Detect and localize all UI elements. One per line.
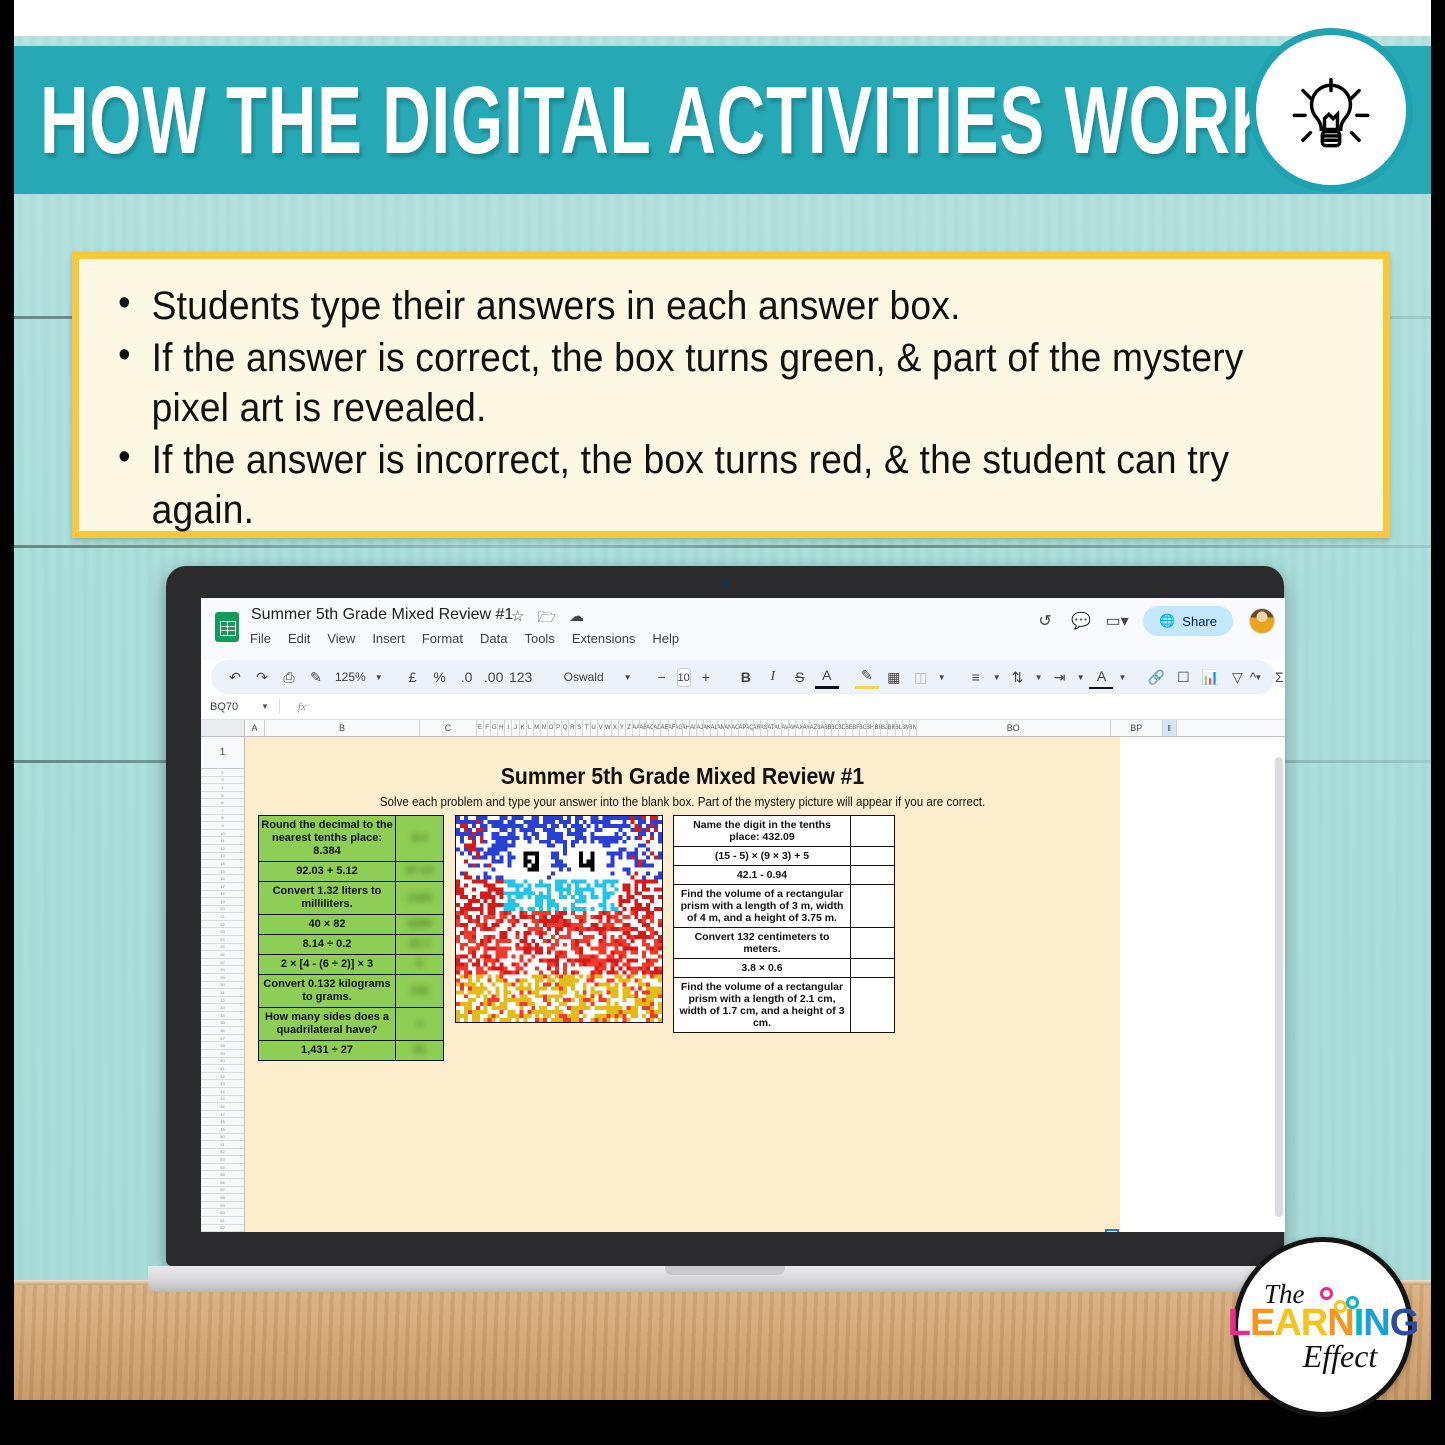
menu-data[interactable]: Data: [480, 631, 507, 646]
problem-cell: Name the digit in the tenths place: 432.…: [674, 816, 851, 847]
row-header-40[interactable]: 40: [201, 1058, 244, 1066]
column-header-j[interactable]: J: [512, 720, 519, 736]
column-header-ar[interactable]: AR: [754, 720, 761, 736]
row-header-61[interactable]: 61: [201, 1217, 244, 1225]
sheet-canvas[interactable]: Summer 5th Grade Mixed Review #1 Solve e…: [245, 737, 1285, 1232]
column-header-am[interactable]: AM: [718, 720, 725, 736]
zoom-level[interactable]: 125%: [331, 670, 370, 684]
worksheet-title: Summer 5th Grade Mixed Review #1: [280, 763, 1085, 790]
column-header-ag[interactable]: AG: [676, 720, 683, 736]
row-header-45[interactable]: 45: [201, 1096, 244, 1104]
share-button[interactable]: 🌐 Share: [1143, 606, 1233, 636]
column-header-bl[interactable]: BL: [896, 720, 903, 736]
table-row[interactable]: Name the digit in the tenths place: 432.…: [674, 816, 895, 847]
column-header-o[interactable]: O: [548, 720, 555, 736]
column-header-k[interactable]: K: [520, 720, 527, 736]
problem-cell: 92.03 + 5.12: [259, 862, 396, 882]
column-header-bg[interactable]: BG: [860, 720, 867, 736]
column-header-bf[interactable]: BF: [853, 720, 860, 736]
formula-bar: BQ70 ▼ fx: [201, 694, 1285, 720]
answer-value: 6: [416, 958, 422, 970]
italic-button[interactable]: I: [761, 665, 785, 689]
column-header-q[interactable]: Q: [562, 720, 569, 736]
redo-icon[interactable]: ↷: [250, 665, 274, 689]
row-header-34[interactable]: 34: [201, 1012, 244, 1020]
answer-value: 3280: [407, 918, 431, 930]
problem-cell: Convert 132 centimeters to meters.: [674, 928, 851, 959]
column-header-a[interactable]: A: [245, 720, 265, 736]
row-header-59[interactable]: 59: [201, 1202, 244, 1210]
row-header-22[interactable]: 22: [201, 921, 244, 929]
row-header-53[interactable]: 53: [201, 1156, 244, 1164]
decrease-font-size-button[interactable]: −: [650, 665, 674, 689]
top-white-band: [0, 0, 1445, 36]
problem-cell: 40 × 82: [259, 915, 396, 935]
row-header-20[interactable]: 20: [201, 906, 244, 914]
column-header-v[interactable]: V: [598, 720, 605, 736]
column-header-bc[interactable]: BC: [832, 720, 839, 736]
problem-cell: Convert 1.32 liters to milliliters.: [259, 882, 396, 915]
bold-button[interactable]: B: [734, 665, 758, 689]
column-header-bb[interactable]: BB: [825, 720, 832, 736]
answer-value: 40.7: [409, 938, 430, 950]
column-header-as[interactable]: AS: [761, 720, 768, 736]
column-header-f[interactable]: F: [484, 720, 491, 736]
row-header-19[interactable]: 19: [201, 898, 244, 906]
row-header-17[interactable]: 17: [201, 883, 244, 891]
column-header-af[interactable]: AF: [669, 720, 676, 736]
table-row[interactable]: 8.14 ÷ 0.240.7: [259, 935, 444, 955]
column-header-c[interactable]: C: [420, 720, 477, 736]
row-header-column[interactable]: 1 23456789101112131415161718192021222324…: [201, 737, 245, 1232]
column-header-w[interactable]: W: [605, 720, 612, 736]
answer-cell[interactable]: 53: [396, 1041, 444, 1061]
merge-cells-icon: ◫: [909, 665, 933, 689]
row-header-52[interactable]: 52: [201, 1149, 244, 1157]
chevron-down-icon[interactable]: ▼: [1075, 673, 1087, 682]
column-header-ap[interactable]: AP: [739, 720, 746, 736]
row-header-14[interactable]: 14: [201, 860, 244, 868]
print-icon[interactable]: ⎙: [277, 665, 301, 689]
row-header-31[interactable]: 31: [201, 989, 244, 997]
avatar[interactable]: [1249, 608, 1275, 634]
chevron-down-icon: ▼: [936, 673, 948, 682]
row-header-29[interactable]: 29: [201, 974, 244, 982]
column-header-ae[interactable]: AE: [661, 720, 668, 736]
row-header-60[interactable]: 60: [201, 1209, 244, 1217]
row-header-21[interactable]: 21: [201, 913, 244, 921]
functions-icon[interactable]: Σ: [1267, 665, 1285, 689]
gear-icon: [1346, 1296, 1359, 1309]
row-header-1[interactable]: 1: [201, 737, 244, 769]
header-actions: ↺ 💬 ▭▾ 🌐 Share: [1035, 606, 1275, 636]
answer-value: 97.15: [406, 865, 434, 877]
logo-effect-text: Effect: [1303, 1338, 1378, 1375]
answer-cell[interactable]: 4: [396, 1008, 444, 1041]
column-header-ah[interactable]: AH: [683, 720, 690, 736]
column-header-az[interactable]: AZ: [810, 720, 817, 736]
paint-format-icon[interactable]: ✎: [304, 665, 328, 689]
laptop-lid: Summer 5th Grade Mixed Review #1 ☆ 🗁 ☁ F…: [166, 566, 1284, 1266]
table-row[interactable]: Find the volume of a rectangular prism w…: [674, 885, 895, 928]
column-header-bar: A B C EFGHIJKLMNOPQRSTUVWXYZAAABACADAEAF…: [201, 720, 1285, 737]
toolbar: ↶ ↷ ⎙ ✎ 125% ▼ £ % .0 .00 123 Oswald ▼ −…: [211, 660, 1275, 694]
row-header-28[interactable]: 28: [201, 966, 244, 974]
right-problem-table[interactable]: Name the digit in the tenths place: 432.…: [673, 815, 895, 1033]
row-header-62[interactable]: 62: [201, 1225, 244, 1232]
row-header-35[interactable]: 35: [201, 1020, 244, 1028]
problem-cell: Find the volume of a rectangular prism w…: [674, 885, 851, 928]
problem-cell: Round the decimal to the nearest tenths …: [259, 816, 396, 862]
row-header-15[interactable]: 15: [201, 868, 244, 876]
column-header-x[interactable]: X: [612, 720, 619, 736]
problem-cell: Convert 0.132 kilograms to grams.: [259, 975, 396, 1008]
text-wrapping-icon[interactable]: ⇥: [1048, 665, 1072, 689]
row-header-7[interactable]: 7: [201, 807, 244, 815]
row-header-50[interactable]: 50: [201, 1134, 244, 1142]
answer-value: 4: [416, 1018, 422, 1030]
table-row[interactable]: (15 - 5) × (9 × 3) + 5: [674, 847, 895, 866]
instructions-box: Students type their answers in each answ…: [72, 252, 1390, 538]
column-header-u[interactable]: U: [591, 720, 598, 736]
menu-view[interactable]: View: [327, 631, 355, 646]
answer-value: 1320: [407, 892, 431, 904]
instructions-list: Students type their answers in each answ…: [107, 281, 1355, 535]
decrease-decimal-button[interactable]: .0: [455, 665, 479, 689]
row-header-10[interactable]: 10: [201, 830, 244, 838]
column-header-i[interactable]: I: [505, 720, 512, 736]
row-header-54[interactable]: 54: [201, 1164, 244, 1172]
row-header-24[interactable]: 24: [201, 936, 244, 944]
divider: [279, 699, 280, 714]
answer-cell[interactable]: 3280: [396, 915, 444, 935]
sheets-logo-icon[interactable]: [215, 612, 239, 642]
row-header-41[interactable]: 41: [201, 1065, 244, 1073]
cell-selection-handle[interactable]: [1105, 1229, 1119, 1232]
row-header-44[interactable]: 44: [201, 1088, 244, 1096]
select-all-corner[interactable]: [201, 720, 245, 736]
row-header-46[interactable]: 46: [201, 1103, 244, 1111]
column-header-at[interactable]: AT: [768, 720, 775, 736]
column-header-h[interactable]: H: [498, 720, 505, 736]
column-header-ad[interactable]: AD: [654, 720, 661, 736]
cloud-saved-icon[interactable]: ☁: [569, 607, 584, 632]
video-call-icon[interactable]: ▭▾: [1107, 611, 1127, 631]
problem-cell: 42.1 - 0.94: [674, 866, 851, 885]
table-row[interactable]: How many sides does a quadrilateral have…: [259, 1008, 444, 1041]
insert-comment-icon[interactable]: ☐: [1171, 665, 1195, 689]
answer-cell[interactable]: 6: [396, 955, 444, 975]
star-icon[interactable]: ☆: [511, 607, 524, 632]
globe-icon: 🌐: [1159, 613, 1175, 629]
spreadsheet-grid[interactable]: 1 23456789101112131415161718192021222324…: [201, 737, 1285, 1232]
table-row[interactable]: 3.8 × 0.6: [674, 959, 895, 978]
column-header-e[interactable]: E: [477, 720, 484, 736]
answer-cell[interactable]: 1320: [396, 882, 444, 915]
more-formats-button[interactable]: 123: [509, 665, 533, 689]
document-title[interactable]: Summer 5th Grade Mixed Review #1: [251, 606, 513, 624]
table-row[interactable]: Convert 1.32 liters to milliliters.1320: [259, 882, 444, 915]
row-header-36[interactable]: 36: [201, 1027, 244, 1035]
text-color-button[interactable]: A: [815, 665, 839, 689]
row-header-37[interactable]: 37: [201, 1035, 244, 1043]
chevron-down-icon[interactable]: ▼: [261, 702, 269, 711]
column-header-selected[interactable]: ‖: [1163, 720, 1177, 736]
column-header-t[interactable]: T: [583, 720, 590, 736]
right-black-edge: [1431, 0, 1445, 1445]
version-history-icon[interactable]: ↺: [1035, 611, 1055, 631]
problem-cell: (15 - 5) × (9 × 3) + 5: [674, 847, 851, 866]
menu-insert[interactable]: Insert: [372, 631, 405, 646]
logo-letter: A: [1274, 1302, 1300, 1344]
row-header-51[interactable]: 51: [201, 1141, 244, 1149]
row-header-58[interactable]: 58: [201, 1194, 244, 1202]
answer-cell[interactable]: 97.15: [396, 862, 444, 882]
column-header-ao[interactable]: AO: [732, 720, 739, 736]
bottom-black-band: [0, 1400, 1445, 1445]
table-row[interactable]: 40 × 823280: [259, 915, 444, 935]
row-header-42[interactable]: 42: [201, 1073, 244, 1081]
page-header: HOW THE DIGITAL ACTIVITIES WORK: [0, 46, 1445, 194]
vertical-align-icon[interactable]: ⇅: [1006, 665, 1030, 689]
laptop-screen: Summer 5th Grade Mixed Review #1 ☆ 🗁 ☁ F…: [201, 598, 1285, 1232]
answer-cell[interactable]: [851, 816, 895, 847]
comment-icon[interactable]: 💬: [1071, 611, 1091, 631]
table-row[interactable]: Round the decimal to the nearest tenths …: [259, 816, 444, 862]
chart-icon[interactable]: 📊: [1198, 665, 1222, 689]
column-header-g[interactable]: G: [491, 720, 498, 736]
collapse-toolbar-icon[interactable]: ^: [1241, 665, 1265, 689]
increase-decimal-button[interactable]: .00: [482, 665, 506, 689]
column-header-ac[interactable]: AC: [647, 720, 654, 736]
logo-letter: L: [1228, 1302, 1250, 1344]
list-item: Students type their answers in each answ…: [107, 281, 1268, 331]
menu-file[interactable]: File: [250, 631, 271, 646]
column-header-bm[interactable]: BM: [903, 720, 910, 736]
menu-help[interactable]: Help: [652, 631, 679, 646]
column-header-bi[interactable]: BI: [874, 720, 881, 736]
link-icon[interactable]: 🔗: [1144, 665, 1168, 689]
logo-letter: G: [1390, 1302, 1419, 1344]
fill-color-icon[interactable]: ✎: [855, 665, 879, 689]
column-header-ak[interactable]: AK: [704, 720, 711, 736]
row-header-25[interactable]: 25: [201, 944, 244, 952]
brand-logo: The LEARNING Effect: [1233, 1237, 1413, 1417]
menu-format[interactable]: Format: [422, 631, 463, 646]
column-header-an[interactable]: AN: [725, 720, 732, 736]
borders-icon[interactable]: ▦: [882, 665, 906, 689]
problem-cell: Find the volume of a rectangular prism w…: [674, 978, 851, 1033]
name-box[interactable]: BQ70: [201, 701, 261, 713]
column-header-ai[interactable]: AI: [690, 720, 697, 736]
table-row[interactable]: 1,431 ÷ 2753: [259, 1041, 444, 1061]
row-header-55[interactable]: 55: [201, 1171, 244, 1179]
move-to-folder-icon[interactable]: 🗁: [537, 607, 556, 632]
answer-cell[interactable]: [851, 866, 895, 885]
chevron-down-icon[interactable]: ▼: [1116, 673, 1128, 682]
row-header-27[interactable]: 27: [201, 959, 244, 967]
row-header-48[interactable]: 48: [201, 1118, 244, 1126]
table-row[interactable]: Find the volume of a rectangular prism w…: [674, 978, 895, 1033]
answer-cell[interactable]: 40.7: [396, 935, 444, 955]
webcam-icon: [721, 580, 729, 588]
column-header-aj[interactable]: AJ: [697, 720, 704, 736]
column-header-bd[interactable]: BD: [839, 720, 846, 736]
column-header-ba[interactable]: BA: [818, 720, 825, 736]
chevron-down-icon[interactable]: ▼: [373, 673, 385, 682]
plank-seam: [0, 545, 1445, 548]
lightbulb-icon: [1249, 28, 1413, 192]
column-header-b[interactable]: B: [265, 720, 420, 736]
laptop-notch: [665, 1266, 785, 1275]
row-header-33[interactable]: 33: [201, 1004, 244, 1012]
column-header-aw[interactable]: AW: [789, 720, 796, 736]
mystery-pixel-art: [455, 815, 663, 1023]
currency-format-button[interactable]: £: [401, 665, 425, 689]
table-row[interactable]: 92.03 + 5.1297.15: [259, 862, 444, 882]
row-header-11[interactable]: 11: [201, 837, 244, 845]
horizontal-align-icon[interactable]: ≡: [964, 665, 988, 689]
answer-cell[interactable]: 8.4: [396, 816, 444, 862]
menu-bar: File Edit View Insert Format Data Tools …: [250, 631, 679, 646]
answer-cell[interactable]: [851, 885, 895, 928]
strikethrough-button[interactable]: S: [788, 665, 812, 689]
page-title: HOW THE DIGITAL ACTIVITIES WORK: [40, 64, 1280, 175]
table-row[interactable]: 2 × [4 - (6 ÷ 2)] × 36: [259, 955, 444, 975]
row-header-23[interactable]: 23: [201, 928, 244, 936]
text-rotation-icon[interactable]: A: [1089, 665, 1113, 689]
menu-tools[interactable]: Tools: [524, 631, 554, 646]
logo-learning-text: LEARNING: [1228, 1304, 1419, 1342]
problem-cell: 1,431 ÷ 27: [259, 1041, 396, 1061]
font-family-select[interactable]: Oswald: [549, 670, 619, 684]
font-size-input[interactable]: 10: [677, 668, 691, 687]
increase-font-size-button[interactable]: +: [694, 665, 718, 689]
list-item: If the answer is incorrect, the box turn…: [107, 435, 1268, 535]
column-header-ax[interactable]: AX: [796, 720, 803, 736]
vertical-scrollbar[interactable]: [1275, 757, 1283, 1217]
row-header-12[interactable]: 12: [201, 845, 244, 853]
answer-value: 8.4: [412, 832, 427, 844]
column-header-aa[interactable]: AA: [633, 720, 640, 736]
column-header-m[interactable]: M: [534, 720, 541, 736]
worksheet-subtitle: Solve each problem and type your answer …: [276, 795, 1090, 809]
row-header-2[interactable]: 2: [201, 769, 244, 777]
column-header-bo[interactable]: BO: [917, 720, 1111, 736]
answer-value: 132: [410, 985, 428, 997]
problem-cell: 2 × [4 - (6 ÷ 2)] × 3: [259, 955, 396, 975]
column-header-ay[interactable]: AY: [803, 720, 810, 736]
column-header-l[interactable]: L: [527, 720, 534, 736]
logo-letter: E: [1250, 1302, 1274, 1344]
row-header-3[interactable]: 3: [201, 777, 244, 785]
app-header: Summer 5th Grade Mixed Review #1 ☆ 🗁 ☁ F…: [201, 598, 1285, 660]
row-header-13[interactable]: 13: [201, 853, 244, 861]
column-header-al[interactable]: AL: [711, 720, 718, 736]
problem-cell: How many sides does a quadrilateral have…: [259, 1008, 396, 1041]
row-header-32[interactable]: 32: [201, 997, 244, 1005]
column-header-aq[interactable]: AQ: [747, 720, 754, 736]
answer-cell[interactable]: 132: [396, 975, 444, 1008]
table-row[interactable]: Convert 0.132 kilograms to grams.132: [259, 975, 444, 1008]
share-label: Share: [1182, 614, 1217, 629]
row-header-9[interactable]: 9: [201, 822, 244, 830]
column-header-au[interactable]: AU: [775, 720, 782, 736]
table-row[interactable]: 42.1 - 0.94: [674, 866, 895, 885]
table-row[interactable]: Convert 132 centimeters to meters.: [674, 928, 895, 959]
laptop-mockup: Summer 5th Grade Mixed Review #1 ☆ 🗁 ☁ F…: [148, 566, 1302, 1290]
column-header-y[interactable]: Y: [619, 720, 626, 736]
menu-edit[interactable]: Edit: [288, 631, 310, 646]
answer-cell[interactable]: [851, 928, 895, 959]
row-header-8[interactable]: 8: [201, 815, 244, 823]
row-header-5[interactable]: 5: [201, 792, 244, 800]
row-header-49[interactable]: 49: [201, 1126, 244, 1134]
title-icon-group: ☆ 🗁 ☁: [511, 607, 584, 632]
menu-extensions[interactable]: Extensions: [572, 631, 636, 646]
row-header-56[interactable]: 56: [201, 1179, 244, 1187]
undo-icon[interactable]: ↶: [223, 665, 247, 689]
left-problem-table[interactable]: Round the decimal to the nearest tenths …: [258, 815, 444, 1061]
gear-icon: [1320, 1287, 1333, 1300]
row-header-43[interactable]: 43: [201, 1080, 244, 1088]
column-header-bj[interactable]: BJ: [881, 720, 888, 736]
problem-cell: 3.8 × 0.6: [674, 959, 851, 978]
column-header-n[interactable]: N: [541, 720, 548, 736]
row-header-47[interactable]: 47: [201, 1111, 244, 1119]
row-header-4[interactable]: 4: [201, 784, 244, 792]
row-headers-small[interactable]: 2345678910111213141516171819202122232425…: [201, 769, 244, 1232]
answer-cell[interactable]: [851, 847, 895, 866]
row-header-26[interactable]: 26: [201, 951, 244, 959]
column-header-bn[interactable]: BN: [910, 720, 917, 736]
row-header-57[interactable]: 57: [201, 1187, 244, 1195]
column-header-r[interactable]: R: [569, 720, 576, 736]
row-header-16[interactable]: 16: [201, 875, 244, 883]
column-header-bp[interactable]: BP: [1111, 720, 1163, 736]
percent-format-button[interactable]: %: [428, 665, 452, 689]
column-header-bk[interactable]: BK: [888, 720, 895, 736]
row-header-38[interactable]: 38: [201, 1042, 244, 1050]
row-header-6[interactable]: 6: [201, 799, 244, 807]
column-header-be[interactable]: BE: [846, 720, 853, 736]
chevron-down-icon[interactable]: ▼: [1033, 673, 1045, 682]
answer-cell[interactable]: [851, 959, 895, 978]
column-header-s[interactable]: S: [576, 720, 583, 736]
column-header-p[interactable]: P: [555, 720, 562, 736]
left-black-edge: [0, 0, 14, 1445]
chevron-down-icon[interactable]: ▼: [991, 673, 1003, 682]
row-header-30[interactable]: 30: [201, 982, 244, 990]
fx-label: fx: [298, 701, 306, 713]
narrow-column-headers[interactable]: EFGHIJKLMNOPQRSTUVWXYZAAABACADAEAFAGAHAI…: [477, 720, 917, 736]
chevron-down-icon[interactable]: ▼: [622, 673, 634, 682]
row-header-18[interactable]: 18: [201, 891, 244, 899]
column-header-av[interactable]: AV: [782, 720, 789, 736]
column-header-bh[interactable]: BH: [867, 720, 874, 736]
answer-value: 53: [413, 1044, 425, 1056]
answer-cell[interactable]: [851, 978, 895, 1033]
row-header-39[interactable]: 39: [201, 1050, 244, 1058]
problem-cell: 8.14 ÷ 0.2: [259, 935, 396, 955]
list-item: If the answer is correct, the box turns …: [107, 333, 1268, 433]
column-header-z[interactable]: Z: [626, 720, 633, 736]
column-header-ab[interactable]: AB: [640, 720, 647, 736]
